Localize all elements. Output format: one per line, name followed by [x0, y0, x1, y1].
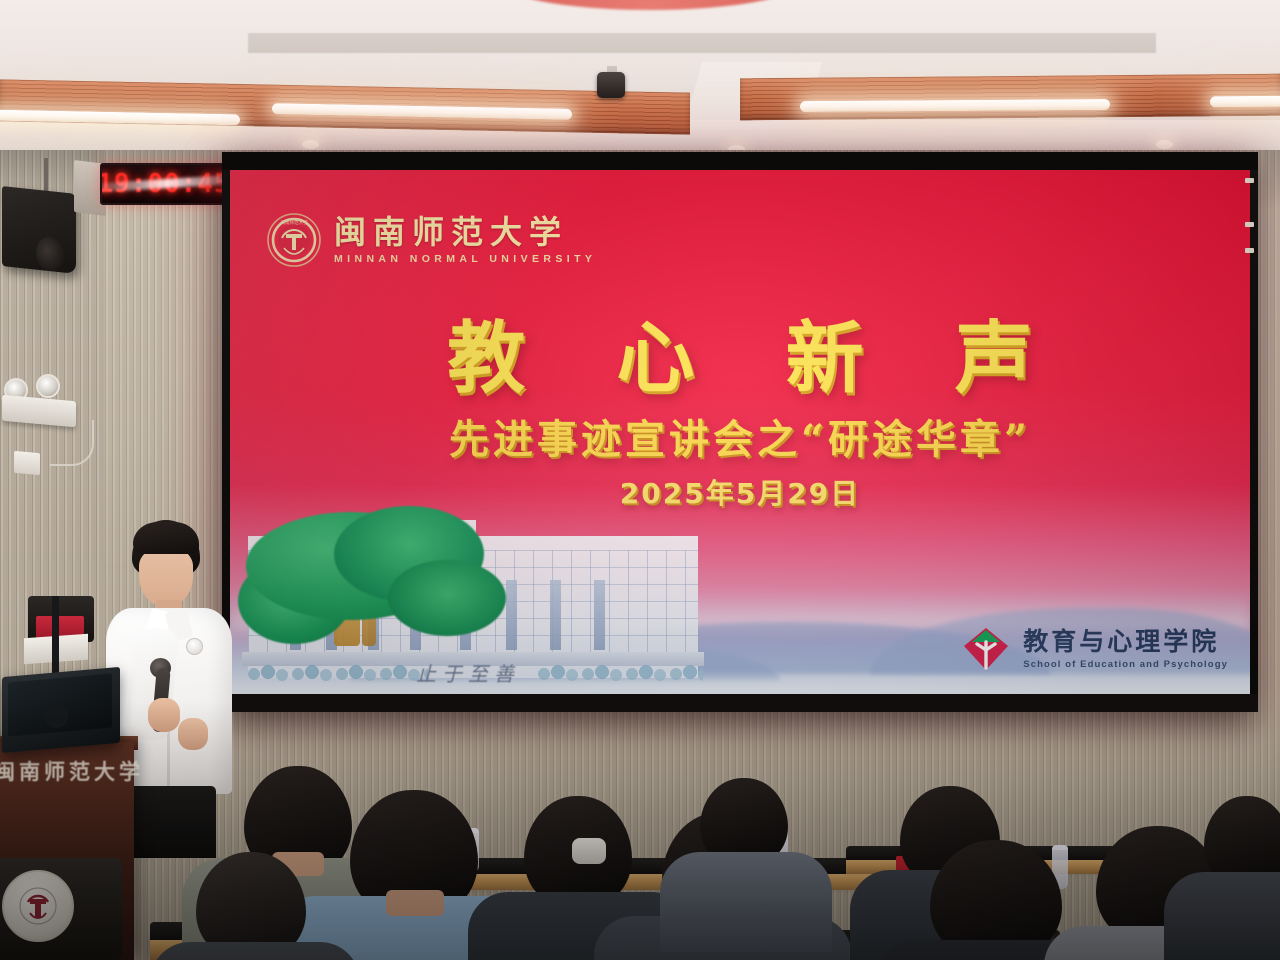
campus-hedge [538, 664, 703, 684]
presenter-fringe [133, 522, 199, 554]
university-name-block: 闽南师范大学 MINNAN NORMAL UNIVERSITY [334, 216, 596, 265]
university-name-en: MINNAN NORMAL UNIVERSITY [334, 254, 596, 265]
presenter-face [139, 546, 193, 606]
chair-seal-icon [18, 886, 58, 926]
led-display-screen: 闽南师范大学 闽南师范大学 MINNAN NORMAL UNIVERSITY 教… [222, 152, 1258, 712]
university-logo-lockup: 闽南师范大学 闽南师范大学 MINNAN NORMAL UNIVERSITY [266, 212, 596, 268]
department-name-cn: 教育与心理学院 [1023, 629, 1228, 654]
department-name-en: School of Education and Psychology [1023, 660, 1228, 670]
ceiling-tube-light [800, 99, 1110, 112]
audience-person [1204, 796, 1280, 886]
audience-torso [660, 852, 832, 952]
audience-person [350, 790, 478, 918]
podium-label: 闽南师范大学 [0, 756, 144, 786]
emergency-light-cord [50, 420, 94, 466]
wall-socket [14, 451, 40, 475]
ceiling-recess [248, 33, 1156, 53]
speaker-bracket [44, 158, 48, 194]
campus-illustration: 止于至善 [238, 506, 708, 688]
department-name-block: 教育与心理学院 School of Education and Psycholo… [1023, 629, 1228, 670]
screen-mount-clip [1245, 222, 1254, 227]
presenter-hand [148, 698, 180, 732]
campus-calligraphy: 止于至善 [416, 658, 520, 687]
audience-person [930, 840, 1062, 960]
campus-pillar [506, 580, 517, 650]
audience-person [196, 852, 306, 960]
emergency-lamp-icon [36, 374, 60, 398]
university-seal-icon: 闽南师范大学 [266, 212, 322, 268]
campus-pillar [594, 580, 605, 650]
audience-neck [386, 890, 444, 916]
university-name-cn: 闽南师范大学 [334, 216, 596, 248]
slide-main-title: 教 心 新 声 [230, 296, 1250, 408]
campus-pillar [550, 580, 561, 650]
ceiling-downlight [302, 140, 319, 149]
department-logo-lockup: 教育与心理学院 School of Education and Psycholo… [960, 622, 1228, 676]
ceiling-tube-light [1210, 96, 1280, 108]
screen-mount-clip [1245, 178, 1254, 183]
screen-bezel-bottom [222, 694, 1258, 712]
tree-icon [388, 560, 506, 636]
ceiling-downlight [1156, 140, 1173, 149]
screen-mount-clip [1245, 248, 1254, 253]
presentation-slide: 闽南师范大学 闽南师范大学 MINNAN NORMAL UNIVERSITY 教… [230, 170, 1250, 694]
projector-icon [597, 72, 625, 98]
lecture-hall-photo: 19:00:45 [0, 0, 1280, 960]
monitor-hinge [44, 704, 68, 728]
department-mark-icon [960, 622, 1012, 676]
presenter-trousers [128, 786, 216, 858]
presenter-hand [178, 718, 208, 750]
led-clock: 19:00:45 [100, 163, 228, 205]
audience-person [700, 778, 788, 866]
presenter-badge [186, 638, 203, 655]
ceiling-wood-band-right [740, 74, 1280, 121]
screen-surface: 闽南师范大学 闽南师范大学 MINNAN NORMAL UNIVERSITY 教… [230, 170, 1250, 694]
audience-torso [150, 942, 360, 960]
slide-subtitle: 先进事迹宣讲会之“研途华章” [230, 407, 1250, 465]
audience-torso [1164, 872, 1280, 960]
university-seal-on-chair [2, 870, 74, 942]
campus-hedge [248, 664, 428, 684]
screen-bezel-top [222, 152, 1258, 170]
svg-text:闽南师范大学: 闽南师范大学 [281, 219, 308, 226]
